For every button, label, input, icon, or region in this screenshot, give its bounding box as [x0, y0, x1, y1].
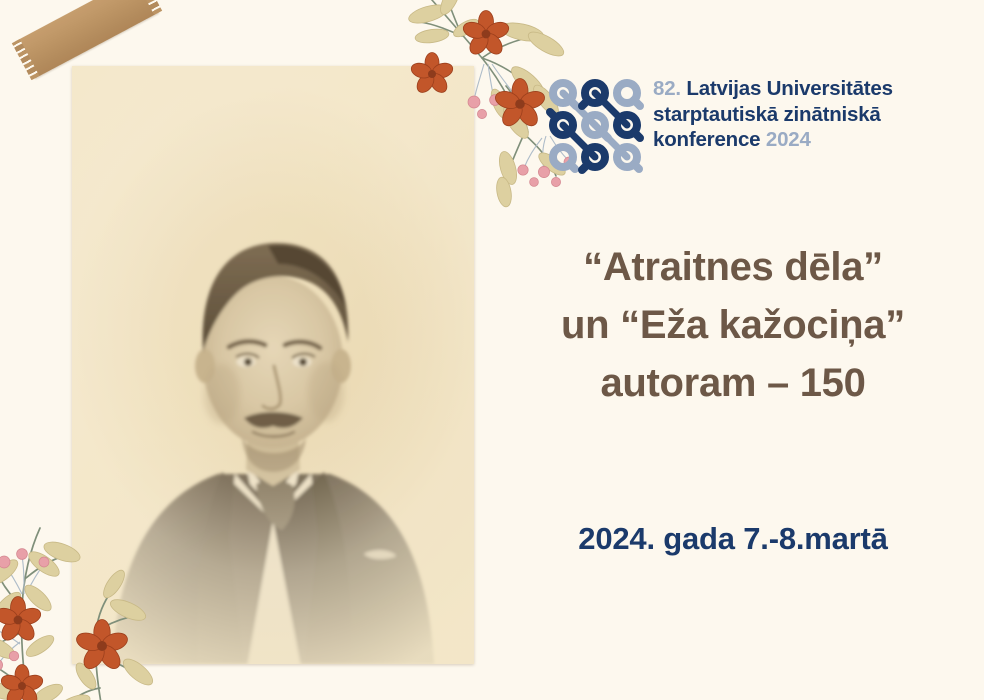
logo-conference-word: konference: [653, 128, 760, 151]
title-line-1: “Atraitnes dēla”: [498, 238, 968, 296]
logo-line-2: starptautiskā zinātniskā: [653, 102, 953, 128]
logo-subtitle: starptautiskā zinātniskā: [653, 103, 881, 126]
conference-logo-text: 82. Latvijas Universitātes starptautiskā…: [653, 76, 953, 153]
logo-edition-number: 82.: [653, 77, 681, 100]
title-line-3: autoram – 150: [498, 354, 968, 412]
conference-logo: 82. Latvijas Universitātes starptautiskā…: [545, 74, 945, 178]
lu-network-nodes-icon: [545, 75, 645, 175]
logo-org-name: Latvijas Universitātes: [686, 77, 892, 100]
poster-canvas: 82. Latvijas Universitātes starptautiskā…: [0, 0, 984, 700]
logo-year: 2024: [766, 128, 811, 151]
portrait-photo: [72, 66, 474, 664]
event-date: 2024. gada 7.-8.martā: [498, 521, 968, 557]
title-line-2: un “Eža kažociņa”: [498, 296, 968, 354]
photo-vignette: [72, 66, 474, 664]
poster-title: “Atraitnes dēla” un “Eža kažociņa” autor…: [498, 238, 968, 412]
logo-line-3: konference 2024: [653, 127, 953, 153]
logo-line-1: 82. Latvijas Universitātes: [653, 76, 953, 102]
